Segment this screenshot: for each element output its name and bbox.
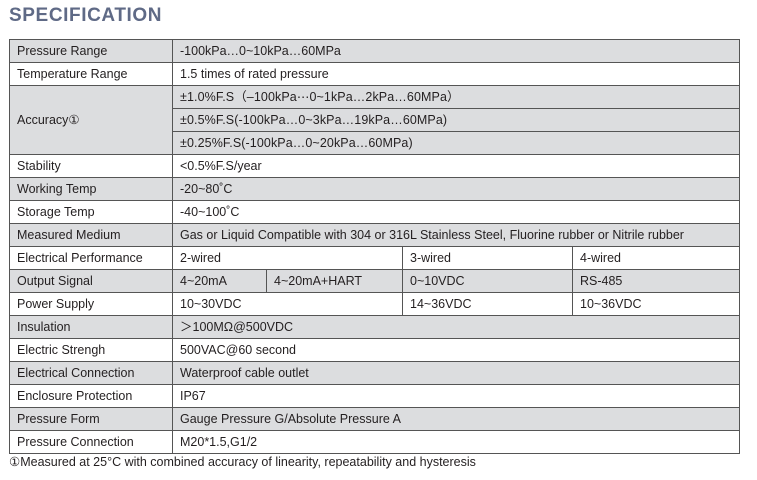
row-value: Waterproof cable outlet xyxy=(173,362,740,385)
table-row: Accuracy①±1.0%F.S（–100kPa⋯0~1kPa…2kPa…60… xyxy=(10,86,740,109)
row-value: -40~100˚C xyxy=(173,201,740,224)
row-value: ±1.0%F.S（–100kPa⋯0~1kPa…2kPa…60MPa） xyxy=(173,86,740,109)
row-label: Insulation xyxy=(10,316,173,339)
row-value: M20*1.5,G1/2 xyxy=(173,431,740,454)
table-row: Storage Temp-40~100˚C xyxy=(10,201,740,224)
table-row: Pressure ConnectionM20*1.5,G1/2 xyxy=(10,431,740,454)
row-value: 14~36VDC xyxy=(403,293,573,316)
row-value: Gauge Pressure G/Absolute Pressure A xyxy=(173,408,740,431)
row-value: 2-wired xyxy=(173,247,403,270)
row-value: RS-485 xyxy=(573,270,740,293)
row-label: Pressure Connection xyxy=(10,431,173,454)
table-row: Power Supply10~30VDC14~36VDC10~36VDC xyxy=(10,293,740,316)
row-label: Power Supply xyxy=(10,293,173,316)
row-label: Working Temp xyxy=(10,178,173,201)
row-value: 500VAC@60 second xyxy=(173,339,740,362)
row-value: 3-wired xyxy=(403,247,573,270)
row-value: -100kPa…0~10kPa…60MPa xyxy=(173,40,740,63)
row-label: Electric Strengh xyxy=(10,339,173,362)
row-value: Gas or Liquid Compatible with 304 or 316… xyxy=(173,224,740,247)
table-row: Measured MediumGas or Liquid Compatible … xyxy=(10,224,740,247)
row-label: Accuracy① xyxy=(10,86,173,155)
row-label: Temperature Range xyxy=(10,63,173,86)
table-row: Working Temp-20~80˚C xyxy=(10,178,740,201)
table-row: Electric Strengh500VAC@60 second xyxy=(10,339,740,362)
row-value: 0~10VDC xyxy=(403,270,573,293)
table-row: Enclosure ProtectionIP67 xyxy=(10,385,740,408)
row-value: 10~30VDC xyxy=(173,293,403,316)
row-label: Electrical Performance xyxy=(10,247,173,270)
table-row: Pressure FormGauge Pressure G/Absolute P… xyxy=(10,408,740,431)
row-label: Measured Medium xyxy=(10,224,173,247)
row-value: IP67 xyxy=(173,385,740,408)
table-row: Temperature Range1.5 times of rated pres… xyxy=(10,63,740,86)
row-value: 4-wired xyxy=(573,247,740,270)
row-label: Enclosure Protection xyxy=(10,385,173,408)
row-value: -20~80˚C xyxy=(173,178,740,201)
row-value: 4~20mA+HART xyxy=(267,270,403,293)
row-label: Pressure Range xyxy=(10,40,173,63)
row-value: 10~36VDC xyxy=(573,293,740,316)
row-label: Output Signal xyxy=(10,270,173,293)
page-title: SPECIFICATION xyxy=(9,4,162,28)
row-value: <0.5%F.S/year xyxy=(173,155,740,178)
table-row: Electrical ConnectionWaterproof cable ou… xyxy=(10,362,740,385)
table-row: Stability<0.5%F.S/year xyxy=(10,155,740,178)
specification-table: Pressure Range-100kPa…0~10kPa…60MPaTempe… xyxy=(9,39,740,454)
table-row: Output Signal4~20mA4~20mA+HART0~10VDCRS-… xyxy=(10,270,740,293)
footnote: ①Measured at 25°C with combined accuracy… xyxy=(9,455,476,470)
row-label: Stability xyxy=(10,155,173,178)
row-value: ±0.5%F.S(-100kPa…0~3kPa…19kPa…60MPa) xyxy=(173,109,740,132)
row-value: 1.5 times of rated pressure xyxy=(173,63,740,86)
table-row: Pressure Range-100kPa…0~10kPa…60MPa xyxy=(10,40,740,63)
row-label: Storage Temp xyxy=(10,201,173,224)
specification-table-body: Pressure Range-100kPa…0~10kPa…60MPaTempe… xyxy=(10,40,740,454)
row-label: Electrical Connection xyxy=(10,362,173,385)
row-value: 4~20mA xyxy=(173,270,267,293)
table-row: Insulation＞100MΩ@500VDC xyxy=(10,316,740,339)
row-value: ＞100MΩ@500VDC xyxy=(173,316,740,339)
table-row: Electrical Performance2-wired3-wired4-wi… xyxy=(10,247,740,270)
row-label: Pressure Form xyxy=(10,408,173,431)
row-value: ±0.25%F.S(-100kPa…0~20kPa…60MPa) xyxy=(173,132,740,155)
